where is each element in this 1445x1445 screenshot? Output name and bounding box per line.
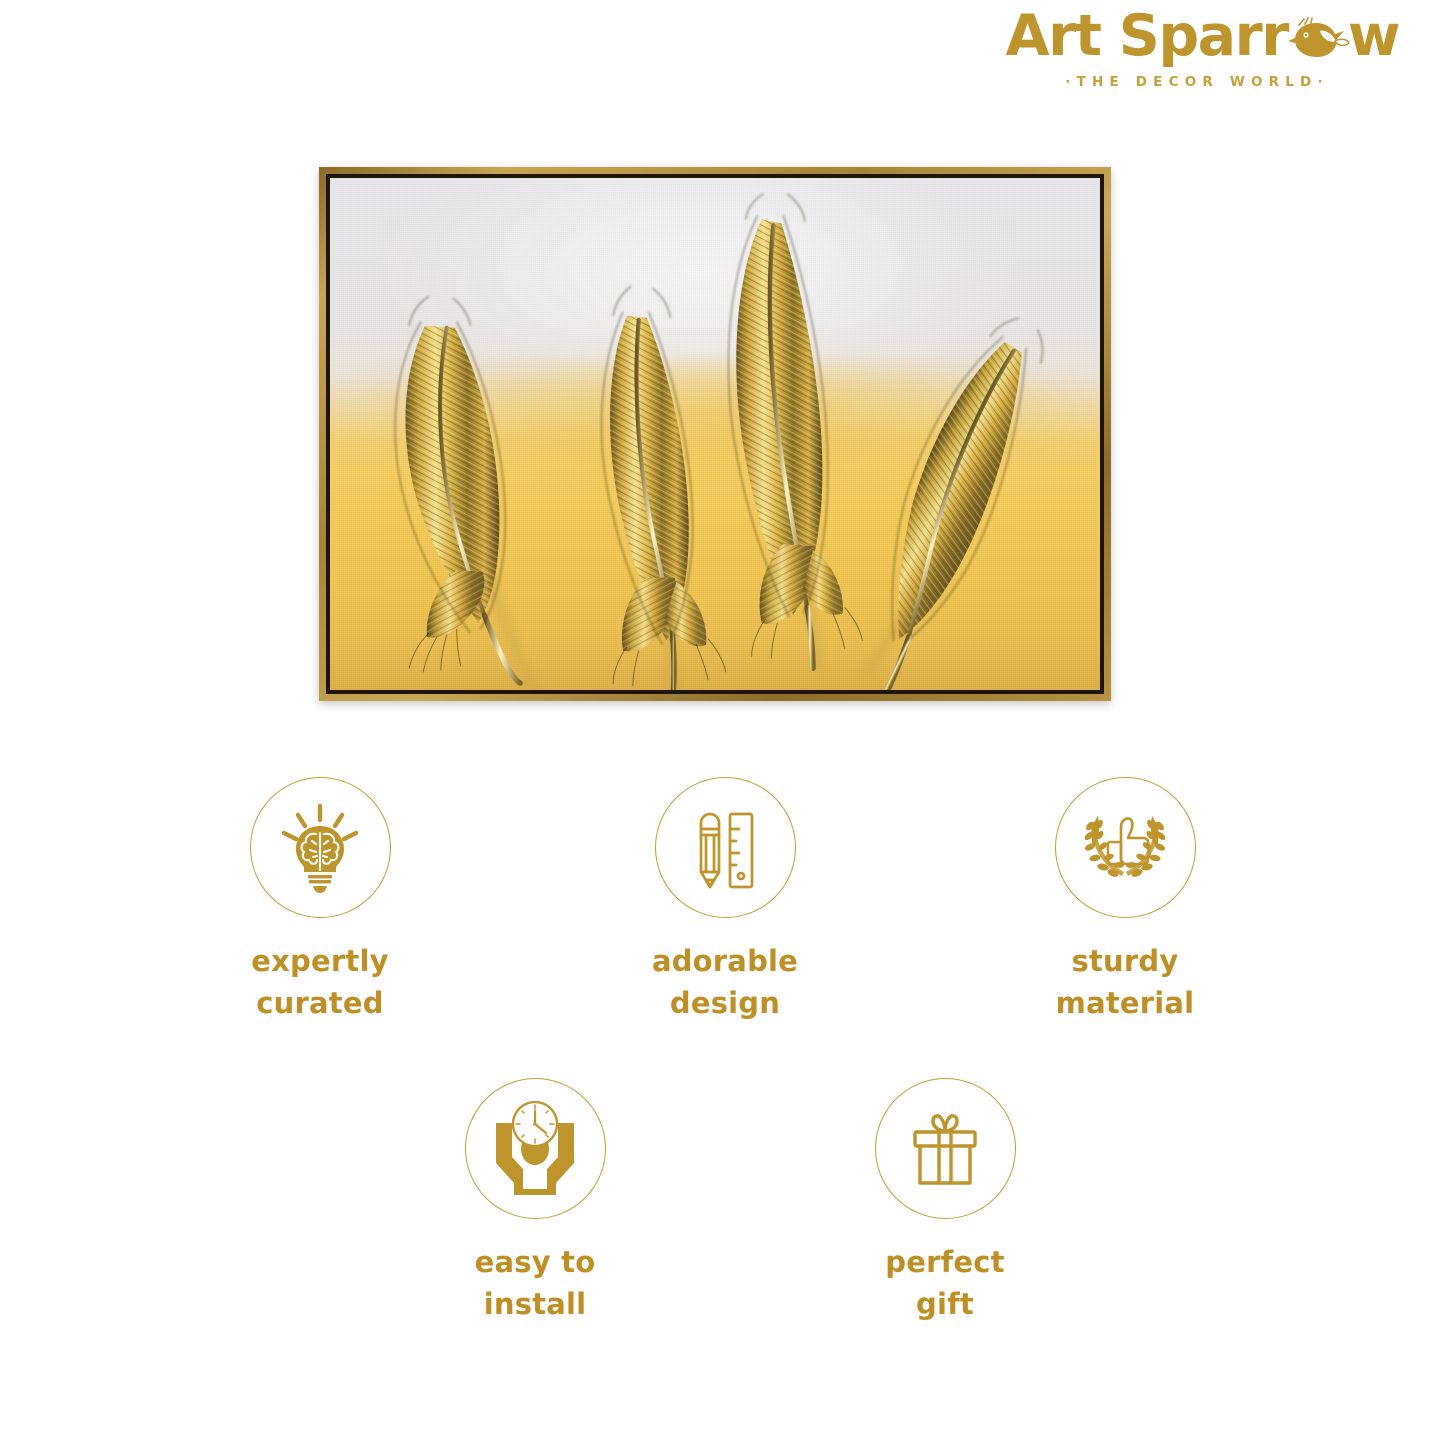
- badge-expertly-curated: expertly curated: [205, 777, 435, 1024]
- badge-label-line1: adorable: [652, 944, 798, 978]
- thumbs-up-laurel-icon: [1074, 800, 1176, 896]
- feather-3: [728, 194, 862, 671]
- badge-label-line1: easy to: [475, 1245, 596, 1279]
- brand-tagline: ·THE DECOR WORLD·: [999, 74, 1399, 90]
- badge-circle: [875, 1078, 1016, 1219]
- badge-label-line1: perfect: [885, 1245, 1004, 1279]
- artwork-frame: [319, 167, 1111, 701]
- pencil-ruler-icon: [679, 802, 771, 894]
- badge-label-line2: material: [1010, 982, 1240, 1024]
- badge-label-line1: sturdy: [1072, 944, 1179, 978]
- badge-label-line2: design: [610, 982, 840, 1024]
- lightbulb-brain-icon: [272, 800, 368, 896]
- feather-1-down: [409, 570, 484, 672]
- artwork-canvas: [330, 178, 1100, 690]
- badge-perfect-gift: perfect gift: [830, 1078, 1060, 1325]
- feather-4: [809, 306, 1076, 690]
- badge-label-line1: expertly: [251, 944, 388, 978]
- brand-wordmark: Art Sparr w: [999, 8, 1399, 65]
- badge-circle: [655, 777, 796, 918]
- person-clock-icon: [482, 1099, 588, 1199]
- frame-inner-shadow: [326, 174, 1104, 694]
- badge-label-line2: gift: [830, 1283, 1060, 1325]
- brand-name-part2: w: [1348, 8, 1399, 65]
- badge-adorable-design: adorable design: [610, 777, 840, 1024]
- brand-logo: Art Sparr w ·THE DECOR WORLD·: [999, 8, 1399, 90]
- badge-label-line2: curated: [205, 982, 435, 1024]
- badge-circle: [465, 1078, 606, 1219]
- brand-name-part1: Art Sparr: [1005, 8, 1287, 65]
- feather-1: [395, 296, 542, 690]
- badge-circle: [1055, 777, 1196, 918]
- badge-label: sturdy material: [1010, 940, 1240, 1024]
- product-listing-page: Art Sparr w ·THE DECOR WORLD·: [0, 0, 1445, 1445]
- badge-circle: [250, 777, 391, 918]
- bird-icon: [1287, 16, 1349, 62]
- badge-label: expertly curated: [205, 940, 435, 1024]
- badge-label: easy to install: [420, 1241, 650, 1325]
- feathers-illustration: [330, 178, 1100, 690]
- badge-label: adorable design: [610, 940, 840, 1024]
- badge-label: perfect gift: [830, 1241, 1060, 1325]
- feather-2: [602, 286, 726, 690]
- badge-label-line2: install: [420, 1283, 650, 1325]
- badge-easy-install: easy to install: [420, 1078, 650, 1325]
- gift-box-icon: [899, 1103, 991, 1195]
- badge-sturdy-material: sturdy material: [1010, 777, 1240, 1024]
